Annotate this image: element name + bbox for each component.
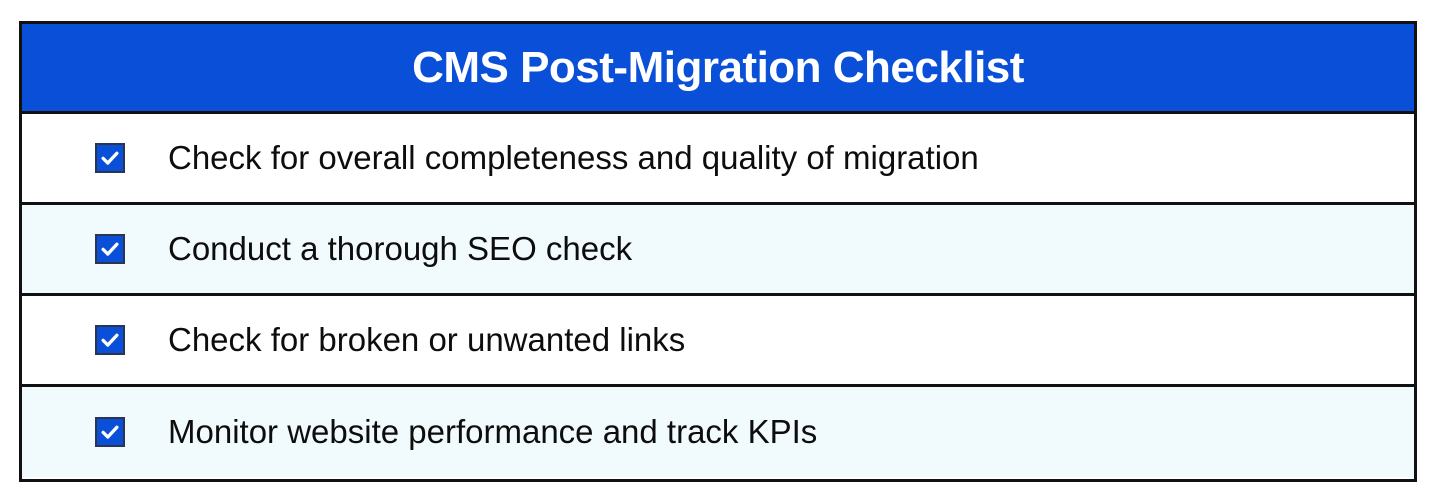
checkbox-item-3[interactable]: [95, 325, 125, 355]
checkmark-icon: [99, 329, 121, 351]
checklist-card: CMS Post-Migration Checklist Check for o…: [19, 21, 1417, 482]
list-item[interactable]: Monitor website performance and track KP…: [22, 387, 1414, 477]
checklist-header: CMS Post-Migration Checklist: [22, 24, 1414, 114]
checkmark-icon: [99, 421, 121, 443]
page-title: CMS Post-Migration Checklist: [412, 46, 1024, 90]
checklist-rows: Check for overall completeness and quali…: [22, 114, 1414, 477]
checkmark-icon: [99, 238, 121, 260]
list-item[interactable]: Conduct a thorough SEO check: [22, 205, 1414, 296]
checkbox-item-4[interactable]: [95, 417, 125, 447]
list-item[interactable]: Check for overall completeness and quali…: [22, 114, 1414, 205]
checkbox-item-1[interactable]: [95, 143, 125, 173]
list-item-label: Conduct a thorough SEO check: [168, 231, 632, 267]
list-item[interactable]: Check for broken or unwanted links: [22, 296, 1414, 387]
list-item-label: Check for overall completeness and quali…: [168, 140, 979, 176]
checkbox-item-2[interactable]: [95, 234, 125, 264]
list-item-label: Check for broken or unwanted links: [168, 322, 685, 358]
list-item-label: Monitor website performance and track KP…: [168, 414, 817, 450]
checkmark-icon: [99, 147, 121, 169]
